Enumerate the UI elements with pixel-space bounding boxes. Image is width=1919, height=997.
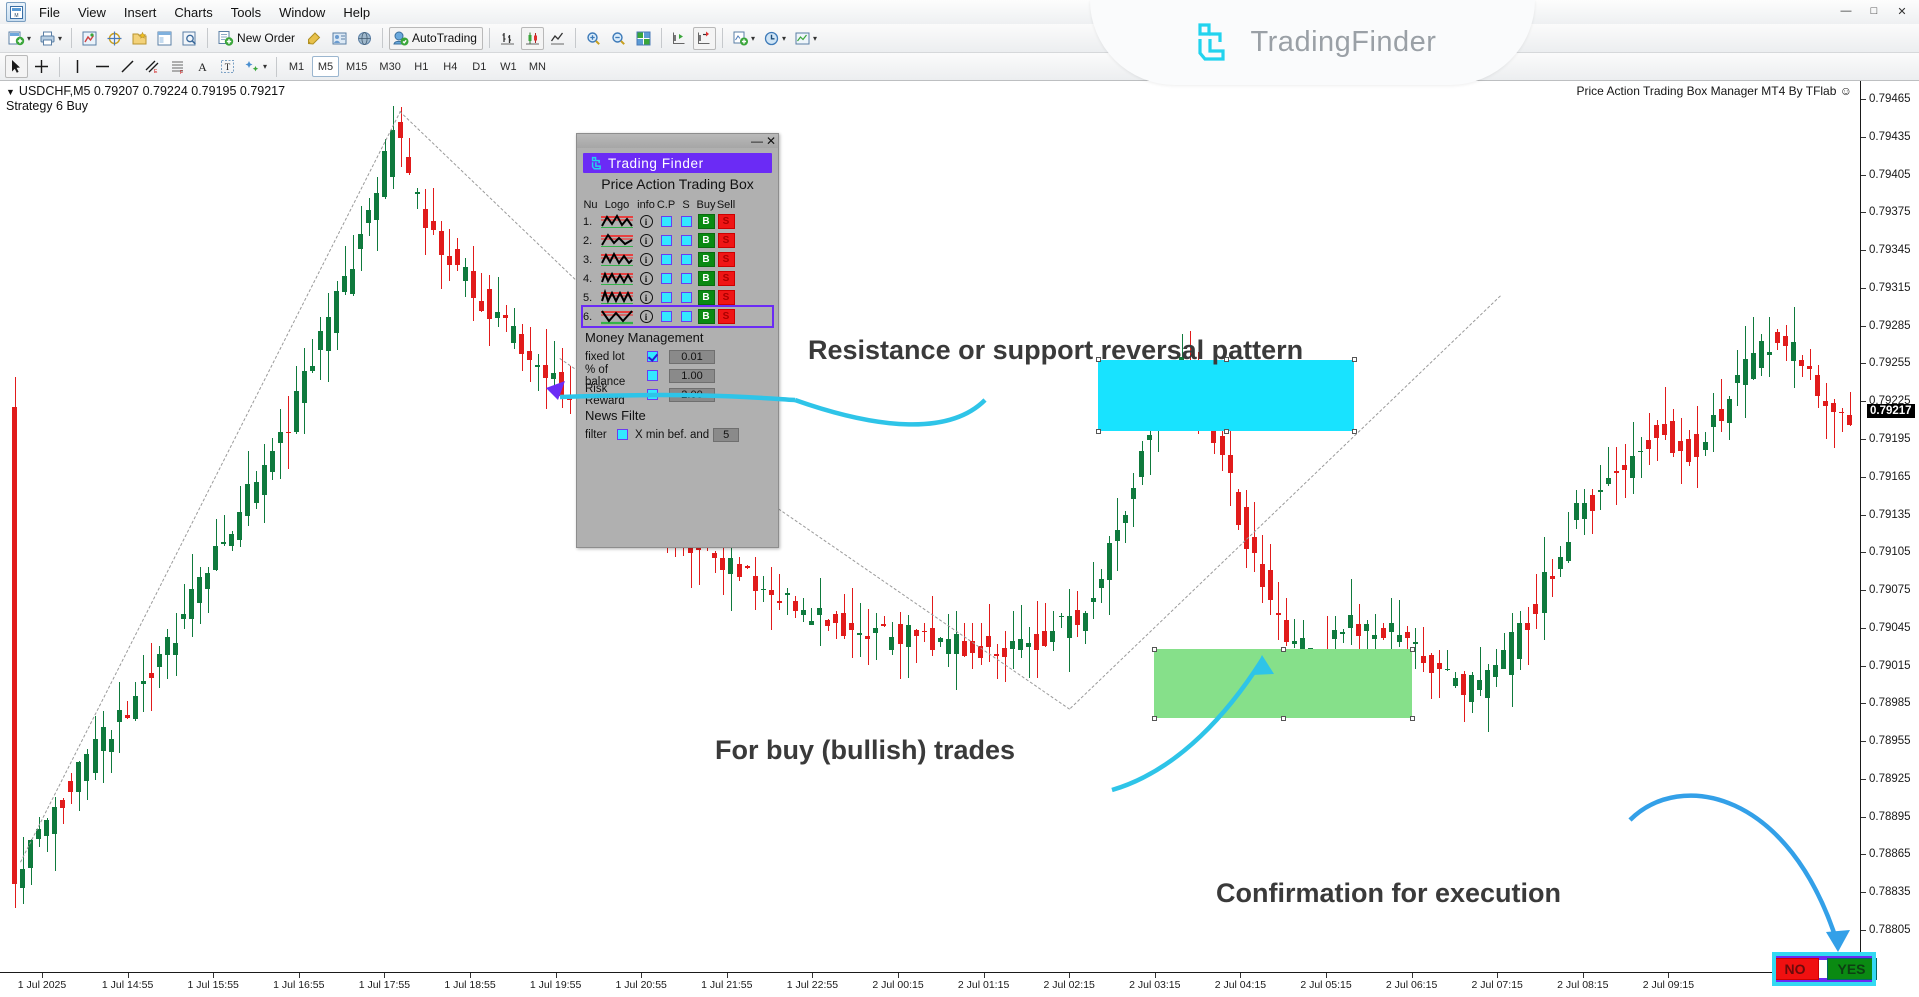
templates2-button[interactable]: ▾ [791, 27, 820, 50]
time-tick-label: 1 Jul 15:55 [188, 979, 239, 991]
price-tick-label: 0.78805 [1869, 924, 1911, 936]
mm-value-input-1[interactable]: 1.00 [669, 369, 715, 383]
time-tick-label: 1 Jul 19:55 [530, 979, 581, 991]
candle-body [1493, 665, 1498, 677]
cp-checkbox-4[interactable] [656, 273, 676, 284]
candle-body [1268, 570, 1273, 600]
candle-wick [538, 354, 539, 391]
candle-body [1759, 341, 1764, 369]
svg-text:M: M [14, 13, 18, 19]
price-tick [1861, 552, 1866, 553]
time-tick-label: 1 Jul 22:55 [787, 979, 838, 991]
pattern-table: Nu Logo info C.P S Buy Sell 1.iBS2.iBS3.… [577, 197, 778, 326]
candle-body [559, 372, 564, 396]
panel-brand-text: Trading Finder [608, 156, 704, 171]
buy-button-2[interactable]: B [696, 233, 716, 248]
pattern-row-number: 4. [583, 273, 598, 285]
candle-wick [1415, 628, 1416, 669]
candle-body [503, 315, 508, 318]
candle-body [801, 610, 806, 616]
time-tick [470, 973, 471, 978]
new-order-button[interactable]: New Order [214, 27, 301, 50]
price-tick [1861, 326, 1866, 327]
sell-button-2[interactable]: S [716, 233, 736, 248]
candle-body [1228, 455, 1233, 473]
pattern-range-icon [598, 270, 636, 287]
menu-charts[interactable]: Charts [165, 3, 221, 22]
autotrading-label: AutoTrading [412, 31, 477, 45]
pattern-row-4[interactable]: 4.iBS [583, 269, 772, 288]
crosshair-button[interactable] [103, 27, 126, 50]
line-chart-button[interactable] [546, 27, 569, 50]
close-button[interactable]: ✕ [1889, 2, 1915, 20]
candle-body [366, 210, 371, 223]
candle-body [431, 221, 436, 230]
timeframe-w1[interactable]: W1 [495, 56, 522, 77]
candle-wick [981, 623, 982, 665]
price-tick-label: 0.79045 [1869, 622, 1911, 634]
fibonacci-tool[interactable]: F [166, 55, 189, 78]
zone-handle[interactable] [1352, 357, 1357, 362]
candle-body [1034, 634, 1039, 650]
yes-button[interactable]: YES [1827, 958, 1877, 980]
candle-body [1348, 615, 1353, 628]
col-buy: Buy [696, 199, 716, 211]
candle-body [342, 276, 347, 292]
minimize-button[interactable]: — [1833, 2, 1859, 20]
price-tick-label: 0.79075 [1869, 584, 1911, 596]
candle-wick [1351, 579, 1352, 645]
price-tick [1861, 892, 1866, 893]
mm-checkbox-0[interactable] [647, 351, 658, 362]
candle-body [1131, 488, 1136, 499]
news-filter-heading: News Filte [585, 408, 778, 423]
cp-checkbox-6[interactable] [656, 311, 676, 322]
info-icon[interactable]: i [636, 234, 656, 247]
candle-body [1727, 399, 1732, 423]
metaeditor-button[interactable] [303, 27, 326, 50]
candle-body [1614, 471, 1619, 473]
sell-button-1[interactable]: S [716, 214, 736, 229]
news-filter-text: X min bef. and [635, 429, 709, 441]
chart-shift-button[interactable] [693, 27, 716, 50]
price-tick [1861, 628, 1866, 629]
candle-body [149, 673, 154, 679]
candle-body [1566, 542, 1571, 561]
templates-button[interactable] [78, 27, 101, 50]
cp-checkbox-2[interactable] [656, 235, 676, 246]
candle-body [1091, 598, 1096, 602]
menu-file[interactable]: File [30, 3, 69, 22]
candle-body [737, 564, 742, 577]
pattern-row-number: 6. [583, 311, 598, 323]
candle-body [825, 620, 830, 626]
timeframe-h1[interactable]: H1 [408, 56, 435, 77]
cp-checkbox-1[interactable] [656, 216, 676, 227]
timeframe-d1[interactable]: D1 [466, 56, 493, 77]
trendline-uptrend-1[interactable] [20, 111, 401, 862]
menu-view[interactable]: View [69, 3, 115, 22]
buy-button-5[interactable]: B [696, 290, 716, 305]
pattern-row-2[interactable]: 2.iBS [583, 231, 772, 250]
cp-checkbox-3[interactable] [656, 254, 676, 265]
vertical-line-tool[interactable] [66, 55, 89, 78]
candle-wick [1005, 631, 1006, 682]
sell-button-5[interactable]: S [716, 290, 736, 305]
candle-body [221, 542, 226, 544]
confirmation-box[interactable]: NO YES [1776, 956, 1872, 982]
info-icon[interactable]: i [636, 310, 656, 323]
candle-body [374, 193, 379, 220]
strategy-tester-button[interactable] [328, 27, 351, 50]
candle-body [1711, 415, 1716, 428]
candle-body [1115, 530, 1120, 541]
symbol-info: ▼USDCHF,M5 0.79207 0.79224 0.79195 0.792… [6, 84, 285, 98]
candle-body [1421, 656, 1426, 663]
candle-body [229, 534, 234, 546]
candle-body [415, 192, 420, 194]
price-tick [1861, 99, 1866, 100]
no-button[interactable]: NO [1772, 958, 1819, 980]
timeframe-m30[interactable]: M30 [374, 56, 405, 77]
toolbar-separator [207, 28, 208, 48]
buy-button-3[interactable]: B [696, 252, 716, 267]
candle-body [463, 267, 468, 281]
cp-checkbox-5[interactable] [656, 292, 676, 303]
mt4-icon: M [6, 2, 26, 22]
candle-body [1622, 465, 1627, 470]
crosshair-tool[interactable] [30, 55, 53, 78]
support-zone[interactable] [1154, 649, 1412, 718]
candle-body [1646, 440, 1651, 448]
pattern-row-3[interactable]: 3.iBS [583, 250, 772, 269]
pattern-row-5[interactable]: 5.iBS [583, 288, 772, 307]
sell-button-4[interactable]: S [716, 271, 736, 286]
time-tick [384, 973, 385, 978]
candle-body [302, 371, 307, 403]
info-icon[interactable]: i [636, 272, 656, 285]
candle-body [1590, 495, 1595, 512]
trendline-tool[interactable] [116, 55, 139, 78]
candle-body [962, 641, 967, 656]
candle-chart-button[interactable] [521, 27, 544, 50]
price-axis[interactable]: 0.794650.794350.794050.793750.793450.793… [1860, 81, 1919, 972]
candle-body [1284, 620, 1289, 641]
candle-body [1147, 435, 1152, 440]
chevron-down-icon: ▾ [782, 34, 786, 43]
candle-body [334, 291, 339, 333]
candle-wick [876, 613, 877, 660]
time-tick-label: 2 Jul 01:15 [958, 979, 1009, 991]
svg-text:E: E [154, 69, 158, 75]
candle-wick [771, 567, 772, 631]
zone-handle[interactable] [1152, 716, 1157, 721]
candle-body [567, 395, 572, 400]
pattern-row-number: 2. [583, 235, 598, 247]
pattern-row-number: 3. [583, 254, 598, 266]
candle-body [1550, 576, 1555, 579]
chevron-down-icon: ▾ [751, 34, 755, 43]
mm-value-input-0[interactable]: 0.01 [669, 350, 715, 364]
money-management-heading: Money Management [585, 330, 778, 345]
price-tick-label: 0.79105 [1869, 546, 1911, 558]
candle-body [938, 638, 943, 642]
buy-button-1[interactable]: B [696, 214, 716, 229]
candle-body [1662, 424, 1667, 435]
time-tick-label: 1 Jul 21:55 [701, 979, 752, 991]
buy-button-4[interactable]: B [696, 271, 716, 286]
candle-body [68, 781, 73, 792]
price-tick [1861, 175, 1866, 176]
time-tick-label: 2 Jul 09:15 [1643, 979, 1694, 991]
candle-body [1453, 678, 1458, 685]
price-tick [1861, 401, 1866, 402]
price-tick [1861, 930, 1866, 931]
candle-body [511, 326, 516, 343]
time-tick [213, 973, 214, 978]
panel-minimize-button[interactable]: — [751, 136, 763, 146]
time-tick [1412, 973, 1413, 978]
candle-body [495, 312, 500, 317]
pattern-double-top-icon [598, 213, 636, 230]
sell-button-3[interactable]: S [716, 252, 736, 267]
s-checkbox-2[interactable] [676, 235, 696, 246]
annotation-confirmation: Confirmation for execution [1216, 878, 1561, 909]
candle-body [1678, 441, 1683, 451]
price-tick [1861, 137, 1866, 138]
candle-wick [280, 409, 281, 478]
toolbar-separator [276, 57, 277, 77]
candle-body [44, 820, 49, 835]
candle-body [1735, 375, 1740, 383]
candle-body [946, 639, 951, 654]
data-window-button[interactable] [153, 27, 176, 50]
chart-area[interactable]: ▼USDCHF,M5 0.79207 0.79224 0.79195 0.792… [0, 81, 1919, 996]
zone-handle[interactable] [1152, 647, 1157, 652]
col-s: S [676, 199, 696, 211]
s-checkbox-1[interactable] [676, 216, 696, 227]
menu-help[interactable]: Help [334, 3, 379, 22]
text-tool[interactable]: A [191, 55, 214, 78]
candle-body [889, 637, 894, 650]
candle-body [197, 577, 202, 603]
candle-wick [1721, 379, 1722, 432]
timeframe-h4[interactable]: H4 [437, 56, 464, 77]
label-tool[interactable]: T [216, 55, 239, 78]
price-tick [1861, 779, 1866, 780]
candle-body [1445, 669, 1450, 671]
svg-text:F: F [180, 70, 183, 75]
candle-body [310, 366, 315, 371]
candle-body [817, 608, 822, 615]
periods-button[interactable]: ▾ [760, 27, 789, 50]
candle-body [865, 636, 870, 639]
candle-body [1791, 342, 1796, 361]
timeframe-m1[interactable]: M1 [283, 56, 310, 77]
s-checkbox-6[interactable] [676, 311, 696, 322]
price-tick-label: 0.79255 [1869, 357, 1911, 369]
time-tick [727, 973, 728, 978]
candle-body [1630, 456, 1635, 477]
mm-label-2: Risk Reward [585, 383, 647, 407]
time-tick [812, 973, 813, 978]
time-tick-label: 2 Jul 07:15 [1472, 979, 1523, 991]
candle-body [1501, 650, 1506, 668]
print-button[interactable]: ▾ [36, 27, 65, 50]
equidistant-channel-tool[interactable]: E [141, 55, 164, 78]
candle-body [1654, 425, 1659, 438]
candle-body [881, 624, 886, 626]
candle-body [745, 566, 750, 568]
new-chart-button[interactable]: ▾ [5, 27, 34, 50]
col-sell: Sell [716, 199, 736, 211]
resistance-zone[interactable] [1098, 360, 1354, 431]
cursor-tool[interactable] [5, 55, 28, 78]
annotation-resistance: Resistance or support reversal pattern [808, 335, 1303, 366]
candle-body [479, 301, 484, 311]
candle-body [286, 432, 291, 434]
candle-body [173, 643, 178, 655]
zone-handle[interactable] [1224, 429, 1229, 434]
time-tick [984, 973, 985, 978]
menu-insert[interactable]: Insert [115, 3, 166, 22]
timeframe-m5[interactable]: M5 [312, 56, 339, 77]
zone-handle[interactable] [1410, 716, 1415, 721]
zoom-out-button[interactable] [607, 27, 630, 50]
candle-body [270, 451, 275, 472]
maximize-button[interactable]: □ [1861, 2, 1887, 20]
news-filter-row: filter X min bef. and 5 [577, 425, 778, 444]
candle-wick [779, 574, 780, 610]
auto-scroll-button[interactable] [668, 27, 691, 50]
zone-handle[interactable] [1281, 716, 1286, 721]
candle-body [519, 334, 524, 354]
news-filter-minutes-input[interactable]: 5 [713, 428, 739, 442]
price-tick [1861, 515, 1866, 516]
candle-body [1220, 436, 1225, 454]
collapse-arrow-icon[interactable]: ▼ [6, 87, 15, 97]
panel-close-button[interactable]: ✕ [766, 136, 776, 146]
mm-value-input-2[interactable]: 2.00 [669, 388, 715, 402]
price-tick-label: 0.78925 [1869, 773, 1911, 785]
candle-body [1236, 492, 1241, 525]
toolbar-separator [382, 28, 383, 48]
candle-body [84, 754, 89, 780]
candle-body [543, 365, 548, 378]
time-tick [556, 973, 557, 978]
candle-body [728, 558, 733, 574]
candle-body [1638, 451, 1643, 453]
autotrading-button[interactable]: AutoTrading [389, 27, 483, 50]
price-action-trading-box-panel[interactable]: — ✕ Trading Finder Price Action Trading … [576, 133, 779, 548]
candle-body [398, 122, 403, 138]
candle-body [1252, 537, 1257, 553]
candle-wick [1013, 611, 1014, 670]
info-icon[interactable]: i [636, 253, 656, 266]
candle-wick [159, 646, 160, 687]
candle-body [1107, 543, 1112, 581]
candle-body [841, 613, 846, 636]
navigator-button[interactable] [178, 27, 201, 50]
s-checkbox-3[interactable] [676, 254, 696, 265]
toolbar-separator [575, 28, 576, 48]
window-controls: — □ ✕ [1833, 2, 1915, 20]
zone-handle[interactable] [1096, 429, 1101, 434]
svg-text:A: A [198, 60, 207, 74]
mm-checkbox-1[interactable] [647, 370, 658, 381]
menu-tools[interactable]: Tools [222, 3, 270, 22]
panel-title-bar[interactable]: — ✕ [577, 134, 778, 148]
price-tick [1861, 363, 1866, 364]
candle-wick [143, 655, 144, 712]
candle-body [1703, 442, 1708, 450]
candle-body [326, 317, 331, 351]
chart-plot[interactable]: ▼USDCHF,M5 0.79207 0.79224 0.79195 0.792… [0, 81, 1860, 972]
marketwatch-button[interactable] [353, 27, 376, 50]
bar-chart-button[interactable] [496, 27, 519, 50]
candle-wick [1802, 355, 1803, 377]
mm-checkbox-2[interactable] [647, 389, 658, 400]
s-checkbox-5[interactable] [676, 292, 696, 303]
candle-body [205, 573, 210, 589]
price-tick-label: 0.79135 [1869, 509, 1911, 521]
candle-body [60, 800, 65, 808]
candle-body [1002, 648, 1007, 657]
sell-button-6[interactable]: S [716, 309, 736, 324]
s-checkbox-4[interactable] [676, 273, 696, 284]
menu-window[interactable]: Window [270, 3, 334, 22]
candle-body [1381, 628, 1386, 638]
candle-body [833, 614, 838, 623]
candle-wick [1625, 444, 1626, 498]
candle-body [262, 465, 267, 495]
zone-handle[interactable] [1281, 647, 1286, 652]
candle-body [1670, 421, 1675, 452]
candle-body [1244, 507, 1249, 549]
candle-body [76, 762, 81, 792]
favorites-button[interactable] [128, 27, 151, 50]
candle-wick [1641, 437, 1642, 478]
buy-button-6[interactable]: B [696, 309, 716, 324]
zoom-in-button[interactable] [582, 27, 605, 50]
price-tick-label: 0.79405 [1869, 169, 1911, 181]
shapes-tool[interactable]: ▾ [241, 55, 270, 78]
candle-body [535, 365, 540, 367]
candle-body [1469, 675, 1474, 702]
timeframe-mn[interactable]: MN [524, 56, 551, 77]
candle-body [1839, 412, 1844, 414]
timeframe-m15[interactable]: M15 [341, 56, 372, 77]
zone-handle[interactable] [1410, 647, 1415, 652]
indicators-button[interactable]: ▾ [729, 27, 758, 50]
candle-body [1059, 616, 1064, 618]
horizontal-line-tool[interactable] [91, 55, 114, 78]
candle-body [157, 654, 162, 666]
info-icon[interactable]: i [636, 291, 656, 304]
tile-windows-button[interactable] [632, 27, 655, 50]
pattern-row-1[interactable]: 1.iBS [583, 212, 772, 231]
col-logo: Logo [598, 199, 636, 211]
candle-body [1743, 359, 1748, 385]
time-axis[interactable]: 1 Jul 20251 Jul 14:551 Jul 15:551 Jul 16… [0, 972, 1860, 997]
pattern-zigzag-icon [598, 289, 636, 306]
time-tick [1155, 973, 1156, 978]
news-filter-checkbox[interactable] [617, 429, 628, 440]
candle-body [487, 289, 492, 319]
info-icon[interactable]: i [636, 215, 656, 228]
candle-body [390, 130, 395, 177]
pattern-row-6[interactable]: 6.iBS [583, 307, 772, 326]
